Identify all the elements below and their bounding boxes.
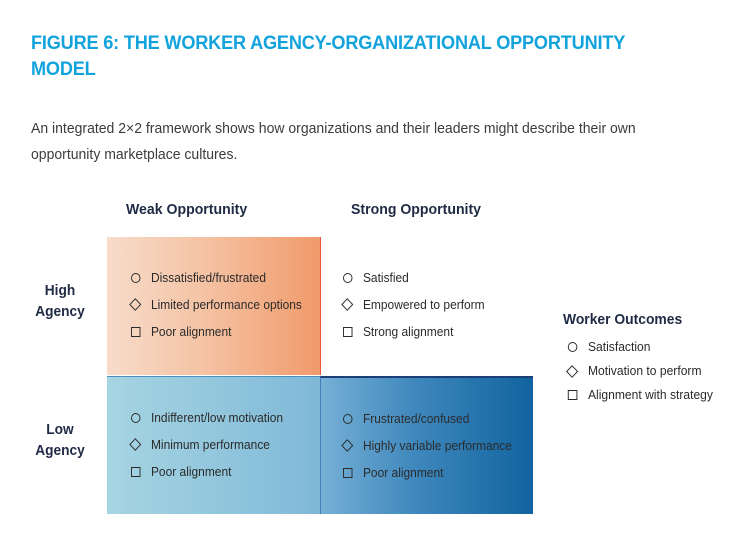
list-item: Frustrated/confused (343, 405, 518, 432)
row-header-high-agency-line1: High (22, 281, 97, 302)
legend-entry-label: Satisfaction (588, 340, 651, 354)
diamond-marker-icon (131, 440, 146, 449)
legend-worker-outcomes: Worker Outcomes Satisfaction Motivation … (563, 312, 749, 407)
diamond-marker-icon (343, 300, 358, 309)
list-item-label: Minimum performance (151, 438, 270, 452)
legend-entry-label: Motivation to perform (588, 364, 702, 378)
column-header-strong-opportunity: Strong Opportunity (351, 201, 481, 218)
list-item-label: Strong alignment (363, 325, 453, 339)
legend-entry: Alignment with strategy (563, 383, 742, 407)
list-item: Satisfied (343, 264, 518, 291)
list-item: Indifferent/low motivation (131, 404, 305, 431)
row-header-high-agency: High Agency (22, 281, 97, 323)
list-item-label: Poor alignment (151, 465, 231, 479)
quadrant-low-agency-weak-opportunity: Indifferent/low motivation Minimum perfo… (107, 376, 320, 514)
list-item-label: Indifferent/low motivation (151, 411, 283, 425)
circle-marker-icon (131, 413, 146, 423)
row-header-high-agency-line2: Agency (22, 302, 97, 323)
list-item: Dissatisfied/frustrated (131, 264, 305, 291)
quadrant-item-list: Indifferent/low motivation Minimum perfo… (131, 404, 314, 485)
list-item: Empowered to perform (343, 291, 518, 318)
row-header-low-agency: Low Agency (22, 420, 97, 462)
quadrant-item-list: Dissatisfied/frustrated Limited performa… (131, 264, 314, 345)
row-header-low-agency-line2: Agency (22, 441, 97, 462)
list-item-label: Frustrated/confused (363, 412, 469, 426)
list-item: Highly variable performance (343, 432, 518, 459)
legend-title: Worker Outcomes (563, 312, 740, 328)
quadrant-item-list: Frustrated/confused Highly variable perf… (343, 405, 527, 486)
list-item: Poor alignment (131, 458, 305, 485)
diamond-marker-icon (343, 441, 358, 450)
quadrant-item-list: Satisfied Empowered to perform Strong al… (343, 264, 527, 345)
circle-marker-icon (343, 273, 358, 283)
opportunity-agency-matrix: Dissatisfied/frustrated Limited performa… (107, 237, 533, 514)
legend-entry: Satisfaction (563, 335, 742, 359)
column-header-weak-opportunity: Weak Opportunity (126, 201, 247, 218)
list-item-label: Satisfied (363, 271, 409, 285)
list-item-label: Poor alignment (363, 466, 443, 480)
list-item: Minimum performance (131, 431, 305, 458)
row-header-low-agency-line1: Low (22, 420, 97, 441)
square-marker-icon (131, 327, 146, 337)
figure-title: FIGURE 6: THE WORKER AGENCY-ORGANIZATION… (31, 30, 626, 82)
square-marker-icon (343, 468, 358, 478)
diamond-marker-icon (131, 300, 146, 309)
diamond-marker-icon (568, 367, 584, 376)
circle-marker-icon (131, 273, 146, 283)
list-item-label: Dissatisfied/frustrated (151, 271, 266, 285)
square-marker-icon (131, 467, 146, 477)
list-item-label: Limited performance options (151, 298, 302, 312)
list-item: Poor alignment (343, 459, 518, 486)
quadrant-high-agency-weak-opportunity: Dissatisfied/frustrated Limited performa… (107, 237, 320, 375)
legend-entry-label: Alignment with strategy (588, 388, 713, 402)
list-item: Poor alignment (131, 318, 305, 345)
circle-marker-icon (568, 342, 584, 352)
circle-marker-icon (343, 414, 358, 424)
list-item-label: Empowered to perform (363, 298, 485, 312)
list-item-label: Poor alignment (151, 325, 231, 339)
quadrant-low-agency-strong-opportunity: Frustrated/confused Highly variable perf… (320, 376, 533, 514)
figure-subtitle: An integrated 2×2 framework shows how or… (31, 116, 676, 168)
list-item: Limited performance options (131, 291, 305, 318)
list-item-label: Highly variable performance (363, 439, 512, 453)
square-marker-icon (343, 327, 358, 337)
quadrant-high-agency-strong-opportunity: Satisfied Empowered to perform Strong al… (320, 237, 533, 375)
list-item: Strong alignment (343, 318, 518, 345)
square-marker-icon (568, 390, 584, 400)
legend-entry: Motivation to perform (563, 359, 742, 383)
